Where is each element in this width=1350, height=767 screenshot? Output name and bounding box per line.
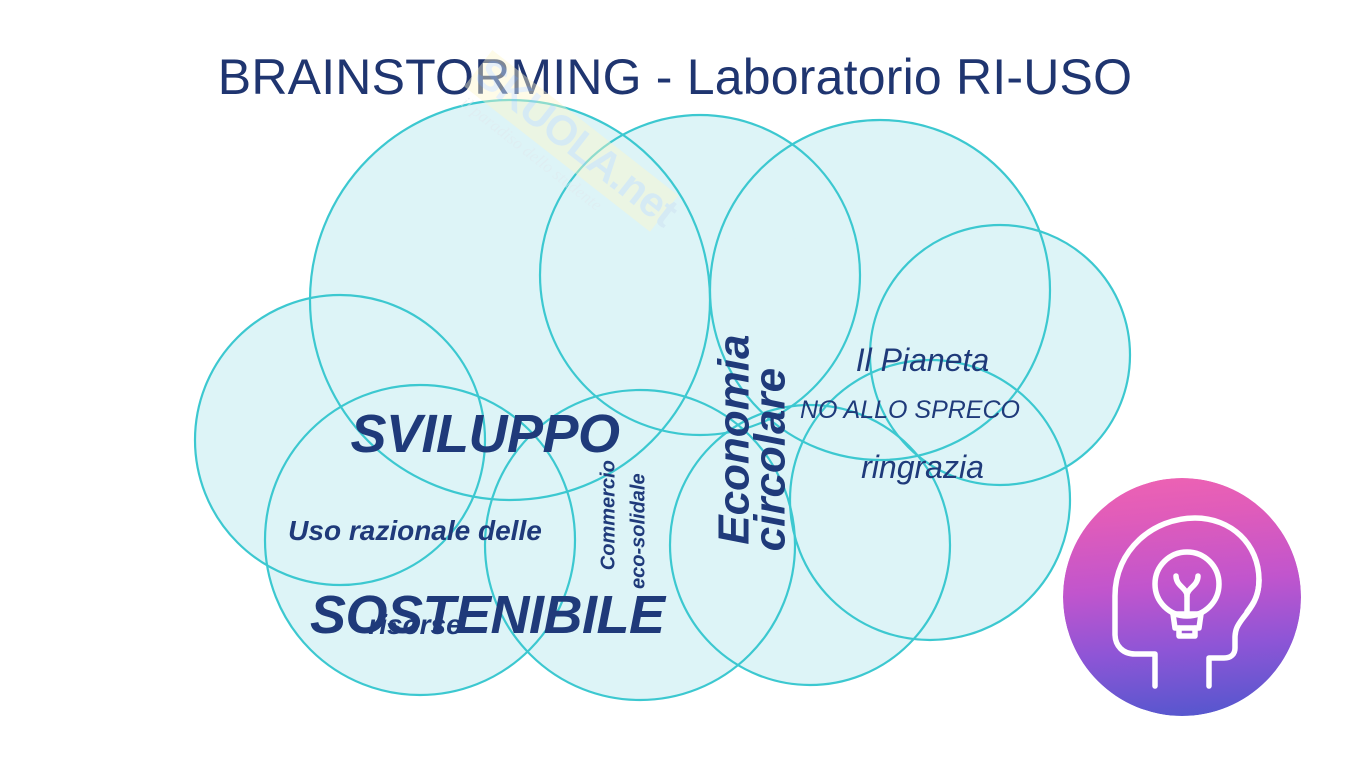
word-uso-line2: risorse — [265, 609, 565, 640]
word-pianeta-line2: ringrazia — [815, 450, 1030, 486]
word-commercio: Commercio — [597, 428, 619, 603]
slide-canvas: BRAINSTORMING - Laboratorio RI-USO SKUOL… — [0, 0, 1350, 759]
word-circolare: circolare — [745, 330, 794, 590]
head-lightbulb-idea-icon — [1063, 478, 1301, 716]
word-uso-line1: Uso razionale delle — [265, 515, 565, 546]
idea-badge — [1063, 478, 1301, 716]
word-no-allo-spreco: NO ALLO SPRECO — [800, 396, 1080, 424]
word-uso-razionale-delle-risorse: Uso razionale delle risorse — [265, 452, 565, 703]
word-eco-solidale: eco-solidale — [627, 444, 649, 619]
word-pianeta-line1: Il Pianeta — [815, 343, 1030, 379]
